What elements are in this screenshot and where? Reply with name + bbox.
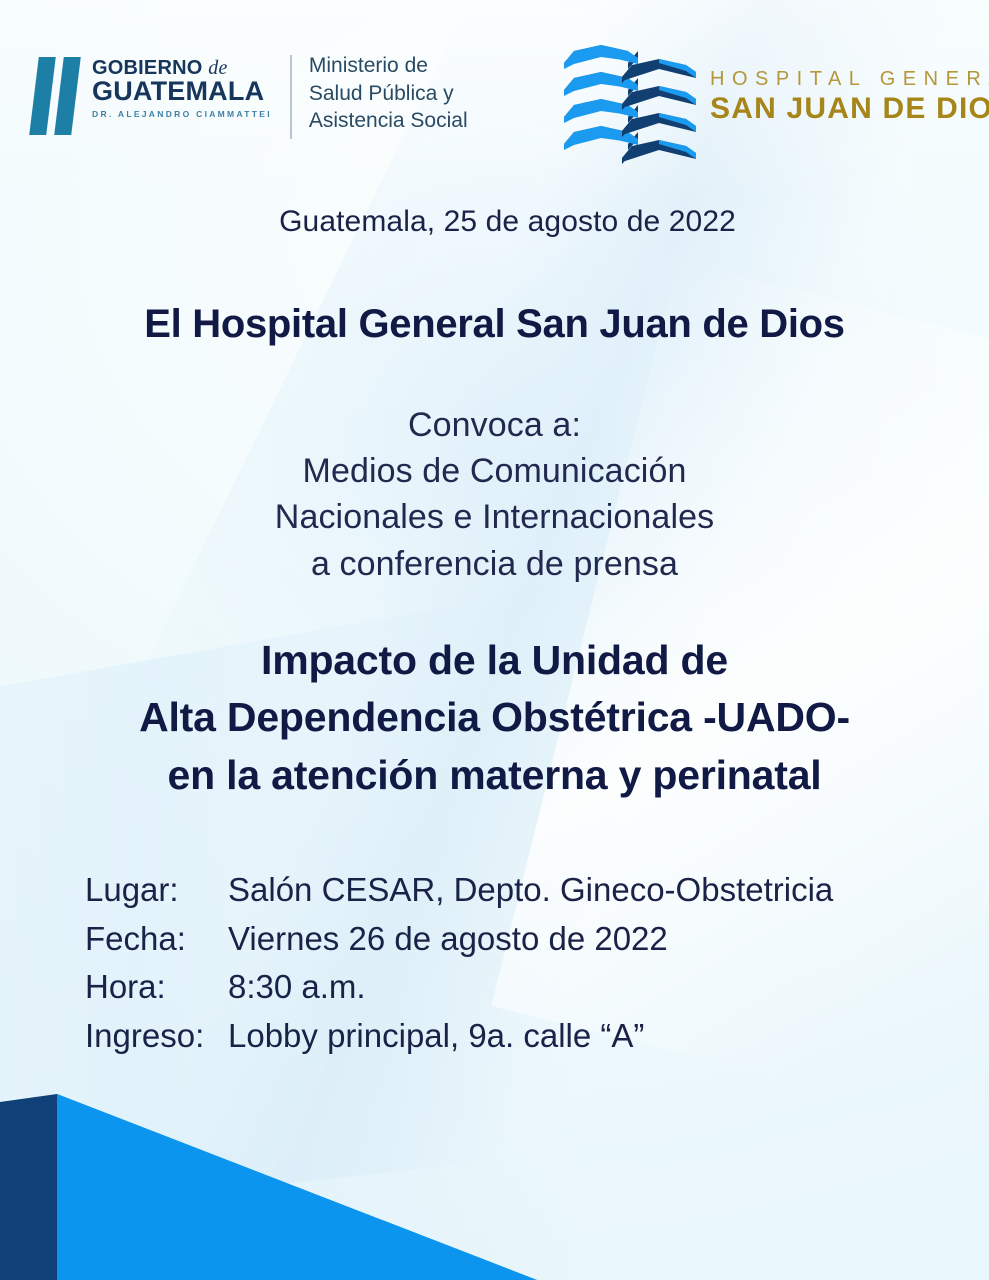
convoca-line: Medios de Comunicación bbox=[0, 448, 989, 494]
detail-value: Viernes 26 de agosto de 2022 bbox=[228, 915, 833, 964]
hospital-name: SAN JUAN DE DIOS bbox=[710, 92, 989, 127]
hospital-wordmark: HOSPITAL GENERAL SAN JUAN DE DIOS bbox=[710, 45, 989, 127]
event-details: Lugar: Salón CESAR, Depto. Gineco-Obstet… bbox=[85, 866, 833, 1060]
gobierno-line-1: GOBIERNO de bbox=[92, 58, 272, 78]
guatemala-bars-icon bbox=[28, 57, 86, 135]
event-title-line: Impacto de la Unidad de bbox=[0, 632, 989, 689]
gobierno-wordmark: GOBIERNO de GUATEMALA DR. ALEJANDRO CIAM… bbox=[92, 52, 272, 119]
event-title-line: en la atención materna y perinatal bbox=[0, 747, 989, 804]
poster-canvas: GOBIERNO de GUATEMALA DR. ALEJANDRO CIAM… bbox=[0, 0, 989, 1280]
stacked-chevrons-icon bbox=[564, 45, 692, 153]
chevron-icon bbox=[622, 86, 696, 107]
hospital-san-juan-de-dios-logo: HOSPITAL GENERAL SAN JUAN DE DIOS bbox=[564, 45, 989, 153]
dateline: Guatemala, 25 de agosto de 2022 bbox=[0, 205, 989, 239]
detail-row-hora: Hora: 8:30 a.m. bbox=[85, 963, 833, 1012]
detail-row-lugar: Lugar: Salón CESAR, Depto. Gineco-Obstet… bbox=[85, 866, 833, 915]
detail-value: 8:30 a.m. bbox=[228, 963, 833, 1012]
hospital-general-label: HOSPITAL GENERAL bbox=[710, 68, 989, 90]
chevron-icon bbox=[622, 59, 696, 80]
detail-label: Hora: bbox=[85, 963, 228, 1012]
page-title: El Hospital General San Juan de Dios bbox=[0, 302, 989, 347]
poster-header: GOBIERNO de GUATEMALA DR. ALEJANDRO CIAM… bbox=[0, 0, 989, 170]
convoca-line: a conferencia de prensa bbox=[0, 541, 989, 587]
event-title-line: Alta Dependencia Obstétrica -UADO- bbox=[0, 689, 989, 746]
ministerio-wordmark: Ministerio de Salud Pública y Asistencia… bbox=[309, 52, 468, 135]
logo-divider bbox=[290, 55, 292, 139]
detail-row-fecha: Fecha: Viernes 26 de agosto de 2022 bbox=[85, 915, 833, 964]
ministerio-line-3: Asistencia Social bbox=[309, 107, 468, 135]
detail-value: Salón CESAR, Depto. Gineco-Obstetricia bbox=[228, 866, 833, 915]
ministerio-line-2: Salud Pública y bbox=[309, 80, 468, 108]
chevron-icon bbox=[622, 140, 696, 161]
detail-label: Ingreso: bbox=[85, 1012, 228, 1061]
presidente-name: DR. ALEJANDRO CIAMMATTEI bbox=[92, 109, 272, 119]
convoca-line: Convoca a: bbox=[0, 402, 989, 448]
guatemala-word: GUATEMALA bbox=[92, 78, 272, 106]
angled-ribbon-icon bbox=[0, 1080, 989, 1280]
ministerio-line-1: Ministerio de bbox=[309, 52, 468, 80]
guatemala-bar-right bbox=[54, 57, 81, 135]
gobierno-de-guatemala-logo: GOBIERNO de GUATEMALA DR. ALEJANDRO CIAM… bbox=[28, 52, 468, 139]
guatemala-bar-left bbox=[29, 57, 56, 135]
detail-label: Lugar: bbox=[85, 866, 228, 915]
event-title: Impacto de la Unidad de Alta Dependencia… bbox=[0, 632, 989, 804]
detail-label: Fecha: bbox=[85, 915, 228, 964]
detail-row-ingreso: Ingreso: Lobby principal, 9a. calle “A” bbox=[85, 1012, 833, 1061]
convoca-line: Nacionales e Internacionales bbox=[0, 494, 989, 540]
convoca-block: Convoca a: Medios de Comunicación Nacion… bbox=[0, 402, 989, 587]
chevron-icon bbox=[622, 113, 696, 134]
detail-value: Lobby principal, 9a. calle “A” bbox=[228, 1012, 833, 1061]
